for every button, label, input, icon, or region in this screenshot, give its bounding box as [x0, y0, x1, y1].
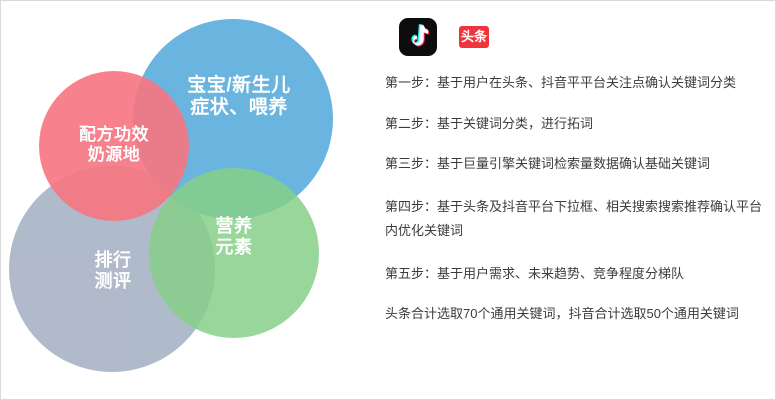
logo-row: 头条: [377, 15, 767, 59]
toutiao-logo-text: 头条: [459, 26, 489, 48]
step-item-1: 第一步：基于用户在头条、抖音平平台关注点确认关键词分类: [385, 73, 763, 93]
steps-list: 第一步：基于用户在头条、抖音平平台关注点确认关键词分类 第二步：基于关键词分类，…: [377, 73, 767, 324]
content-panel: 头条 第一步：基于用户在头条、抖音平平台关注点确认关键词分类 第二步：基于关键词…: [369, 1, 775, 399]
step-item-3: 第三步：基于巨量引擎关键词检索量数据确认基础关键词: [385, 154, 763, 174]
slide-canvas: 宝宝/新生儿 症状、喂养 配方功效 奶源地 营养 元素 排行 测评 头条 第一步…: [0, 0, 776, 400]
douyin-note-icon: [406, 24, 430, 50]
toutiao-logo[interactable]: 头条: [455, 18, 493, 56]
venn-svg: [1, 1, 369, 399]
step-item-5: 第五步：基于用户需求、未来趋势、竞争程度分梯队: [385, 264, 763, 284]
venn-diagram: 宝宝/新生儿 症状、喂养 配方功效 奶源地 营养 元素 排行 测评: [1, 1, 369, 399]
nutrition-element-circle[interactable]: [149, 168, 319, 338]
step-item-4: 第四步：基于头条及抖音平台下拉框、相关搜索搜索推荐确认平台内优化关键词: [385, 195, 763, 243]
step-item-2: 第二步：基于关键词分类，进行拓词: [385, 114, 763, 134]
formula-efficacy-circle[interactable]: [39, 71, 189, 221]
douyin-logo[interactable]: [399, 18, 437, 56]
steps-summary: 头条合计选取70个通用关键词，抖音合计选取50个通用关键词: [385, 304, 763, 324]
